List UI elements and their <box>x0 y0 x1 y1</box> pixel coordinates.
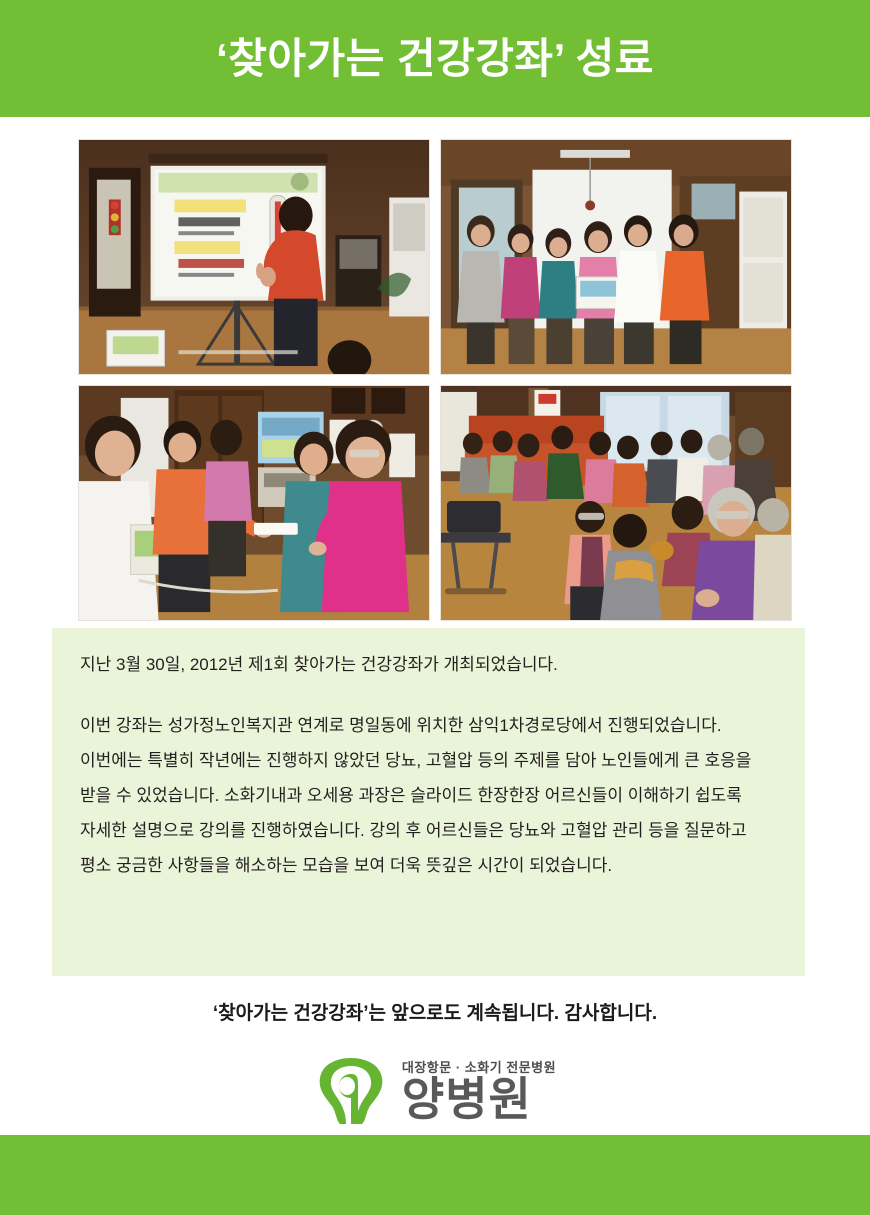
logo-hospital-name: 양병원 <box>402 1076 556 1122</box>
photo-lecture-presentation <box>78 139 430 375</box>
photo-grid <box>78 139 792 621</box>
closing-statement: ‘찾아가는 건강강좌’는 앞으로도 계속됩니다. 감사합니다. <box>0 998 870 1025</box>
header-banner: ‘찾아가는 건강강좌’ 성료 <box>0 0 870 117</box>
photo-handing-materials <box>78 385 430 621</box>
hospital-logo: 대장항문 · 소화기 전문병원 양병원 <box>0 1056 870 1126</box>
article-lead: 지난 3월 30일, 2012년 제1회 찾아가는 건강강좌가 개최되었습니다. <box>80 652 775 678</box>
photo-group-portrait <box>440 139 792 375</box>
photo-audience-seated <box>440 385 792 621</box>
footer-bar <box>0 1135 870 1215</box>
article-paragraph: 이번 강좌는 성가정노인복지관 연계로 명일동에 위치한 삼익1차경로당에서 진… <box>80 708 775 884</box>
article-text-panel: 지난 3월 30일, 2012년 제1회 찾아가는 건강강좌가 개최되었습니다.… <box>52 628 805 976</box>
page-title: ‘찾아가는 건강강좌’ 성료 <box>216 38 654 80</box>
logo-tagline: 대장항문 · 소화기 전문병원 <box>402 1061 556 1074</box>
yang-hospital-leaf-logo-icon <box>314 1056 388 1126</box>
